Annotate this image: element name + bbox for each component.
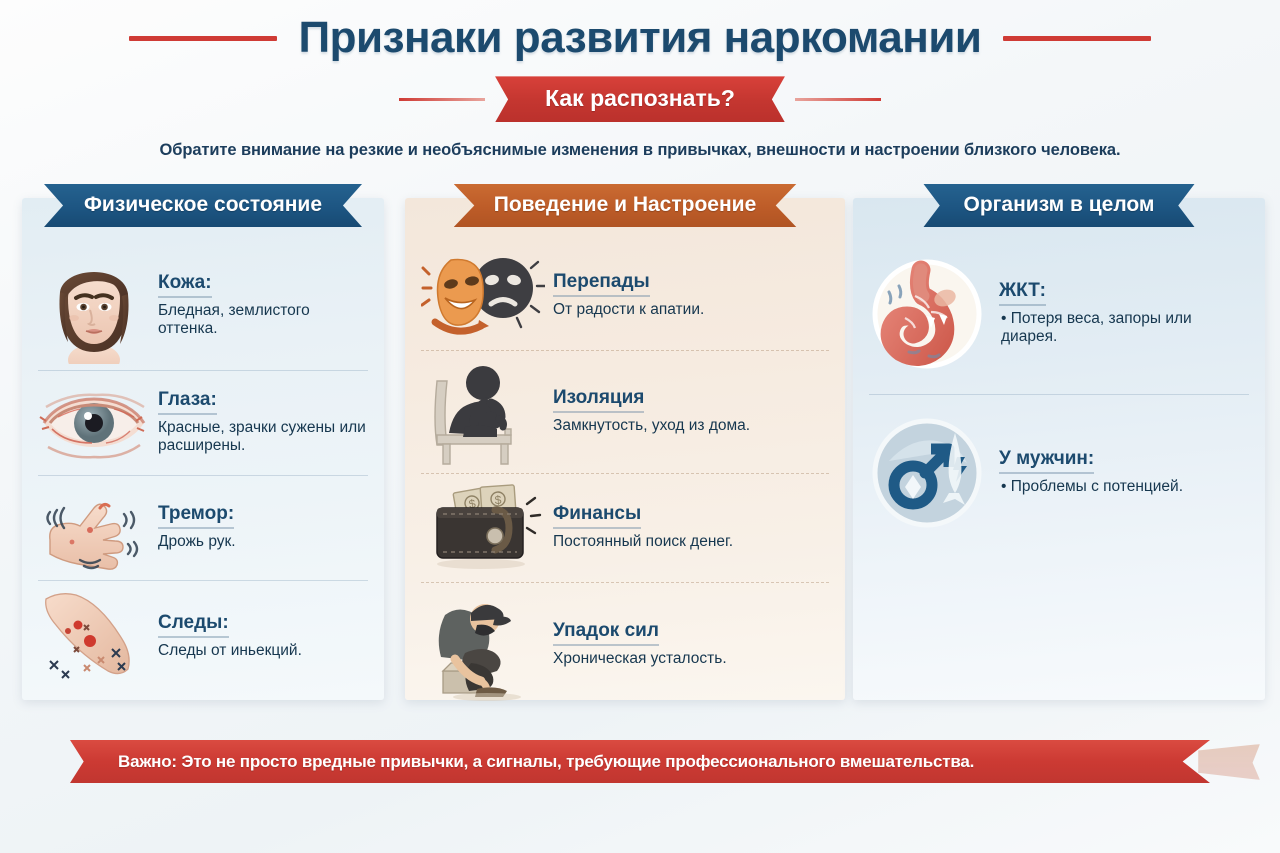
- list-item: Тремор: Дрожь рук.: [38, 475, 368, 580]
- list-item-heading: Тремор:: [158, 504, 234, 529]
- list-item: У мужчин: • Проблемы с потенцией.: [869, 394, 1249, 545]
- stomach-icon: [869, 256, 985, 372]
- list-item-body: Красные, зрачки сужены или расширены.: [158, 419, 368, 457]
- list-item: Кожа: Бледная, землистого оттенка.: [38, 242, 368, 370]
- card-physical: Физическое состояние: [22, 198, 384, 700]
- list-item-heading: У мужчин:: [999, 449, 1094, 474]
- list-item-text: Следы: Следы от иньекций.: [158, 613, 368, 661]
- list-item-heading: Кожа:: [158, 273, 212, 298]
- list-item-body: Постоянный поиск денег.: [553, 533, 829, 552]
- list-item-body: Бледная, землистого оттенка.: [158, 302, 368, 340]
- list-item: Перепады От радости к апатии.: [421, 242, 829, 350]
- column-behaviour: Поведение и Настроение: [405, 198, 845, 700]
- male-symbol-icon: [869, 415, 985, 531]
- ribbon-rule-right: [795, 98, 881, 101]
- card-body: Организм в целом: [853, 198, 1265, 700]
- list-item-body: • Проблемы с потенцией.: [999, 478, 1249, 497]
- footer-banner: Важно: Это не просто вредные привычки, а…: [70, 740, 1210, 783]
- list-item-text: Финансы Постоянный поиск денег.: [553, 504, 829, 552]
- list-item-heading: ЖКТ:: [999, 281, 1046, 306]
- list-item-text: Упадок сил Хроническая усталость.: [553, 621, 829, 669]
- banner-behaviour: Поведение и Настроение: [454, 184, 797, 227]
- list-item-heading: Глаза:: [158, 390, 217, 415]
- woman-face-icon: [38, 248, 150, 364]
- exhausted-man-icon: [421, 589, 545, 701]
- theatre-masks-icon: [421, 248, 545, 344]
- list-item-body: От радости к апатии.: [553, 301, 829, 320]
- injection-marks-arm-icon: [38, 587, 150, 687]
- list-item: Изоляция Замкнутость, уход из дома.: [421, 350, 829, 473]
- list-item-text: У мужчин: • Проблемы с потенцией.: [993, 449, 1249, 497]
- svg-text:$: $: [494, 493, 502, 507]
- list-item: $ $: [421, 473, 829, 582]
- title-rule-left: [129, 36, 277, 41]
- footer-banner-tail: [1198, 744, 1260, 780]
- list-item: Следы: Следы от иньекций.: [38, 580, 368, 693]
- list-item-heading: Следы:: [158, 613, 229, 638]
- list-item-heading: Изоляция: [553, 388, 644, 413]
- card-behaviour: Поведение и Настроение: [405, 198, 845, 700]
- wallet-money-icon: $ $: [421, 480, 545, 576]
- columns-container: Физическое состояние: [0, 198, 1280, 718]
- list-item-text: Глаза: Красные, зрачки сужены или расшир…: [158, 390, 368, 457]
- header: Признаки развития наркомании Как распозн…: [0, 0, 1280, 160]
- subtitle-ribbon: Как распознать?: [495, 76, 785, 122]
- banner-body: Организм в целом: [924, 184, 1195, 227]
- page-title: Признаки развития наркомании: [299, 14, 982, 62]
- subtitle-ribbon-label: Как распознать?: [495, 76, 785, 122]
- list-item: ЖКТ: • Потеря веса, запоры или диарея.: [869, 242, 1249, 394]
- column-physical: Физическое состояние: [22, 198, 384, 700]
- list-item-heading: Финансы: [553, 504, 641, 529]
- page-subtitle: Обратите внимание на резкие и необъясним…: [0, 141, 1280, 160]
- shaking-hand-icon: [38, 482, 150, 574]
- title-rule-right: [1003, 36, 1151, 41]
- list-item-body: Замкнутость, уход из дома.: [553, 417, 829, 436]
- ribbon-row: Как распознать?: [0, 76, 1280, 122]
- list-item-body: Дрожь рук.: [158, 533, 368, 552]
- list-item-body: Следы от иньекций.: [158, 642, 368, 661]
- title-row: Признаки развития наркомании: [0, 14, 1280, 62]
- ribbon-rule-left: [399, 98, 485, 101]
- list-item-heading: Перепады: [553, 272, 650, 297]
- footer-banner-text: Важно: Это не просто вредные привычки, а…: [70, 752, 974, 772]
- red-eye-icon: [38, 377, 150, 469]
- list-item-text: Тремор: Дрожь рук.: [158, 504, 368, 552]
- list-item-text: Кожа: Бледная, землистого оттенка.: [158, 273, 368, 340]
- banner-physical: Физическое состояние: [44, 184, 362, 227]
- list-item-heading: Упадок сил: [553, 621, 659, 646]
- list-item-body: • Потеря веса, запоры или диарея.: [999, 310, 1249, 348]
- list-item-text: ЖКТ: • Потеря веса, запоры или диарея.: [993, 281, 1249, 348]
- list-item: Глаза: Красные, зрачки сужены или расшир…: [38, 370, 368, 475]
- list-item-text: Изоляция Замкнутость, уход из дома.: [553, 388, 829, 436]
- list-item: Упадок сил Хроническая усталость.: [421, 582, 829, 707]
- column-body: Организм в целом: [853, 198, 1265, 700]
- sitting-person-icon: [421, 357, 545, 467]
- list-item-body: Хроническая усталость.: [553, 650, 829, 669]
- list-item-text: Перепады От радости к апатии.: [553, 272, 829, 320]
